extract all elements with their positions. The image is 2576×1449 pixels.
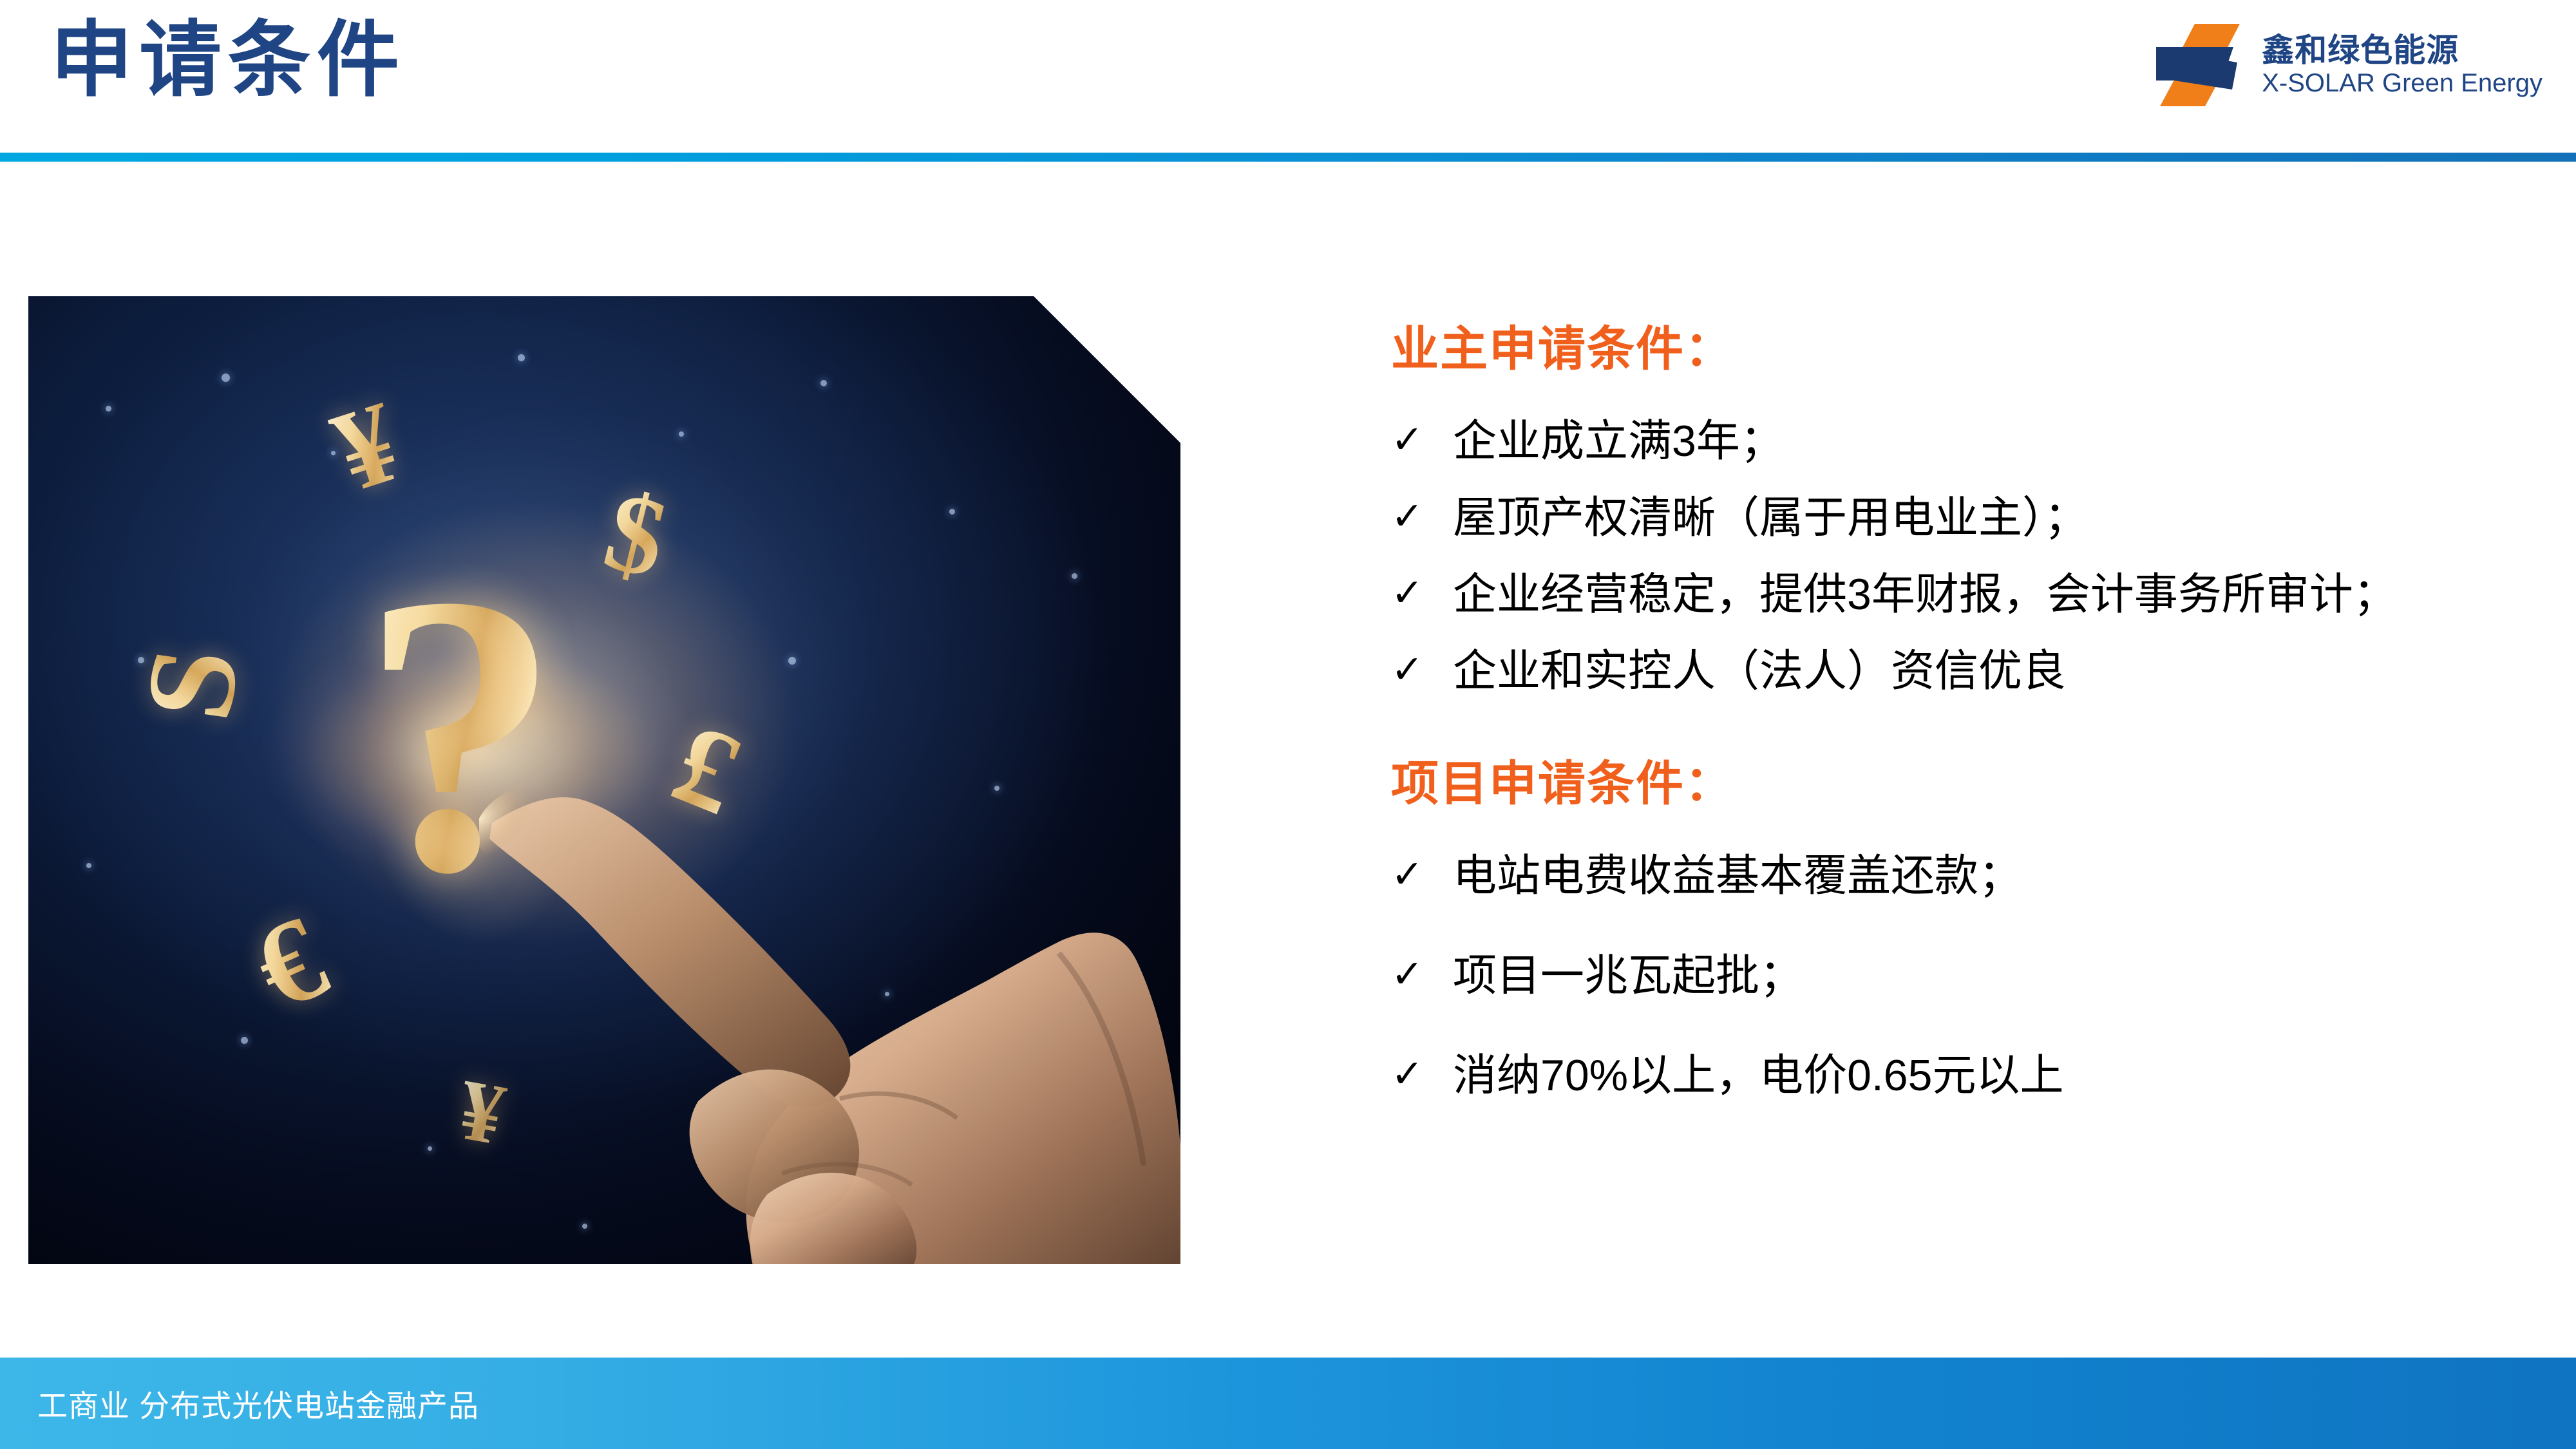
brand-logo: 鑫和绿色能源 X-SOLAR Green Energy [2155, 21, 2543, 109]
page-title: 申请条件 [50, 5, 406, 117]
list-item-label: 企业成立满3年； [1453, 415, 2550, 468]
brand-name-en: X-SOLAR Green Energy [2262, 70, 2543, 96]
check-icon: ✓ [1391, 849, 1453, 900]
check-icon: ✓ [1391, 1049, 1453, 1099]
list-item: ✓ 项目一兆瓦起批； [1391, 949, 2550, 1003]
list-item: ✓ 电站电费收益基本覆盖还款； [1391, 849, 2550, 903]
list-item: ✓ 消纳70%以上，电价0.65元以上 [1391, 1049, 2550, 1103]
list-item: ✓ 屋顶产权清晰（属于用电业主）； [1391, 491, 2550, 545]
footer-label: 工商业 分布式光伏电站金融产品 [37, 1381, 479, 1426]
owner-conditions-section: 业主申请条件： ✓ 企业成立满3年； ✓ 屋顶产权清晰（属于用电业主）； ✓ 企… [1391, 323, 2550, 698]
project-section-heading: 项目申请条件： [1391, 757, 2550, 810]
slide-header: 申请条件 鑫和绿色能源 X-SOLAR Green Energy [0, 0, 2576, 161]
question-mark-photo: ? ¥ $ S £ € ¥ [28, 296, 1180, 1264]
project-bullet-list: ✓ 电站电费收益基本覆盖还款； ✓ 项目一兆瓦起批； ✓ 消纳70%以上，电价0… [1391, 849, 2550, 1103]
check-icon: ✓ [1391, 568, 1453, 618]
check-icon: ✓ [1391, 415, 1453, 465]
list-item: ✓ 企业和实控人（法人）资信优良 [1391, 645, 2550, 698]
pointing-hand-illustration [479, 741, 1180, 1264]
list-item-label: 屋顶产权清晰（属于用电业主）； [1453, 491, 2550, 545]
conditions-content: 业主申请条件： ✓ 企业成立满3年； ✓ 屋顶产权清晰（属于用电业主）； ✓ 企… [1391, 283, 2550, 1149]
brand-name-cn: 鑫和绿色能源 [2262, 34, 2543, 66]
check-icon: ✓ [1391, 949, 1453, 999]
check-icon: ✓ [1391, 645, 1453, 695]
list-item: ✓ 企业经营稳定，提供3年财报，会计事务所审计； [1391, 568, 2550, 621]
project-conditions-section: 项目申请条件： ✓ 电站电费收益基本覆盖还款； ✓ 项目一兆瓦起批； ✓ 消纳7… [1391, 757, 2550, 1103]
owner-bullet-list: ✓ 企业成立满3年； ✓ 屋顶产权清晰（属于用电业主）； ✓ 企业经营稳定，提供… [1391, 415, 2550, 698]
list-item: ✓ 企业成立满3年； [1391, 415, 2550, 468]
slide-footer: 工商业 分布式光伏电站金融产品 [0, 1358, 2576, 1449]
brand-text: 鑫和绿色能源 X-SOLAR Green Energy [2262, 34, 2543, 96]
list-item-label: 消纳70%以上，电价0.65元以上 [1453, 1049, 2550, 1103]
check-icon: ✓ [1391, 491, 1453, 542]
list-item-label: 项目一兆瓦起批； [1453, 949, 2550, 1003]
x-solar-logo-icon [2155, 23, 2245, 108]
header-divider [0, 153, 2576, 162]
list-item-label: 企业经营稳定，提供3年财报，会计事务所审计； [1453, 568, 2550, 621]
list-item-label: 企业和实控人（法人）资信优良 [1453, 645, 2550, 698]
list-item-label: 电站电费收益基本覆盖还款； [1453, 849, 2550, 903]
owner-section-heading: 业主申请条件： [1391, 323, 2550, 375]
